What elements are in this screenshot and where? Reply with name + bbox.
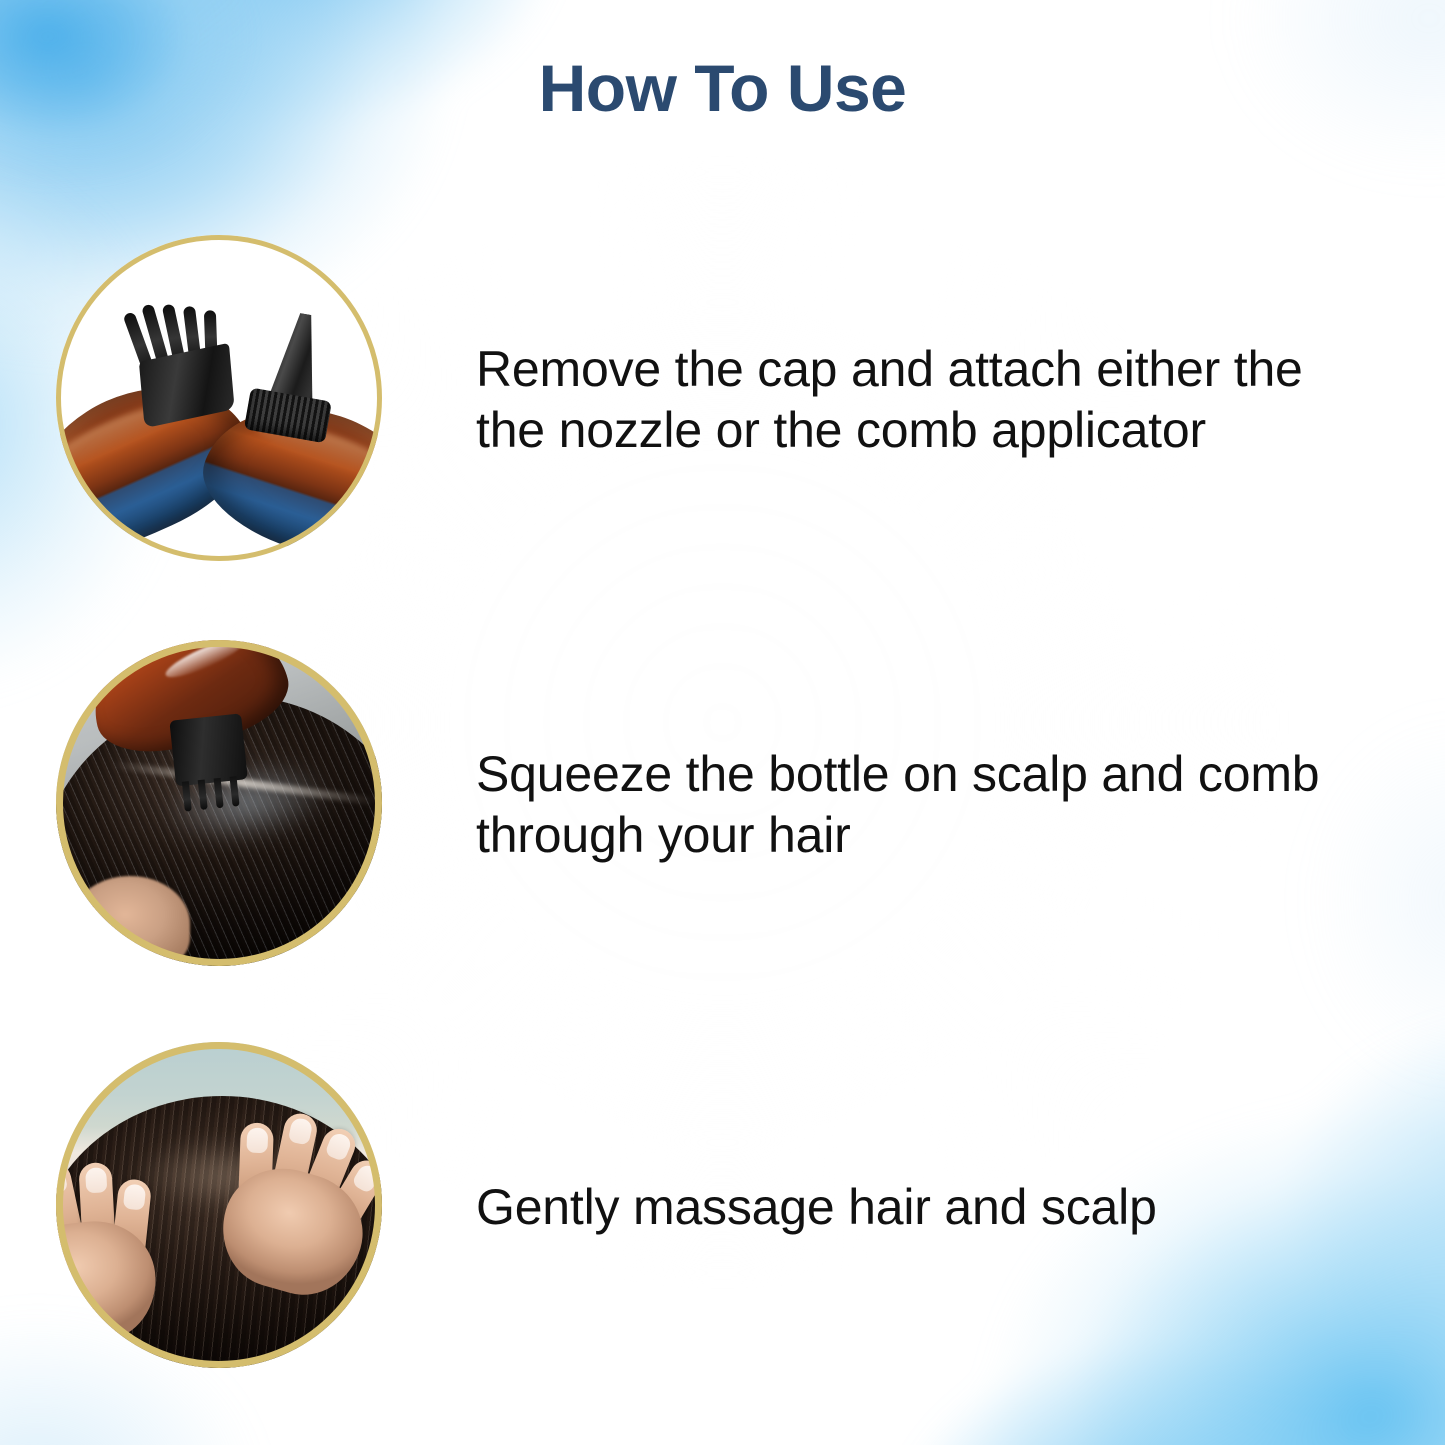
fingernail xyxy=(85,1167,107,1193)
comb-tooth xyxy=(182,781,192,812)
fingernail xyxy=(287,1117,313,1146)
comb-tooth xyxy=(230,776,240,807)
caption-line: through your hair xyxy=(476,805,1355,866)
how-to-use-infographic: How To Use xyxy=(0,0,1445,1445)
fingernail xyxy=(122,1183,145,1210)
step-item-1: Remove the cap and attach either the the… xyxy=(0,235,1445,565)
scene-applicators xyxy=(56,235,382,561)
step-3-thumbnail xyxy=(56,1042,392,1372)
fingernail xyxy=(324,1131,353,1162)
step-2-caption: Squeeze the bottle on scalp and comb thr… xyxy=(392,744,1445,866)
step-item-2: Squeeze the bottle on scalp and comb thr… xyxy=(0,640,1445,970)
fingernail xyxy=(351,1162,382,1194)
step-3-caption: Gently massage hair and scalp xyxy=(392,1177,1445,1238)
comb-tooth xyxy=(198,779,208,810)
fingernail xyxy=(56,1166,68,1195)
comb-applicator-icon xyxy=(169,712,266,815)
caption-line: the nozzle or the comb applicator xyxy=(476,400,1355,461)
step-1-thumbnail xyxy=(56,235,392,565)
step-item-3: Gently massage hair and scalp xyxy=(0,1042,1445,1372)
applicator-attachments-photo xyxy=(56,235,382,561)
caption-line: Gently massage hair and scalp xyxy=(476,1177,1355,1238)
bottle-highlight xyxy=(162,640,249,684)
forehead-skin xyxy=(70,876,190,966)
step-2-thumbnail xyxy=(56,640,392,970)
scene-applying-oil xyxy=(56,640,382,966)
comb-tooth xyxy=(214,778,224,809)
scene-scalp-massage xyxy=(56,1042,382,1368)
caption-line: Remove the cap and attach either the xyxy=(476,339,1355,400)
step-1-caption: Remove the cap and attach either the the… xyxy=(392,339,1445,461)
applying-oil-to-scalp-photo xyxy=(56,640,382,966)
page-title: How To Use xyxy=(0,52,1445,125)
comb-applicator-icon xyxy=(119,297,244,428)
fingernail xyxy=(246,1128,268,1154)
massaging-scalp-photo xyxy=(56,1042,382,1368)
hand-left xyxy=(56,1145,172,1350)
caption-line: Squeeze the bottle on scalp and comb xyxy=(476,744,1355,805)
